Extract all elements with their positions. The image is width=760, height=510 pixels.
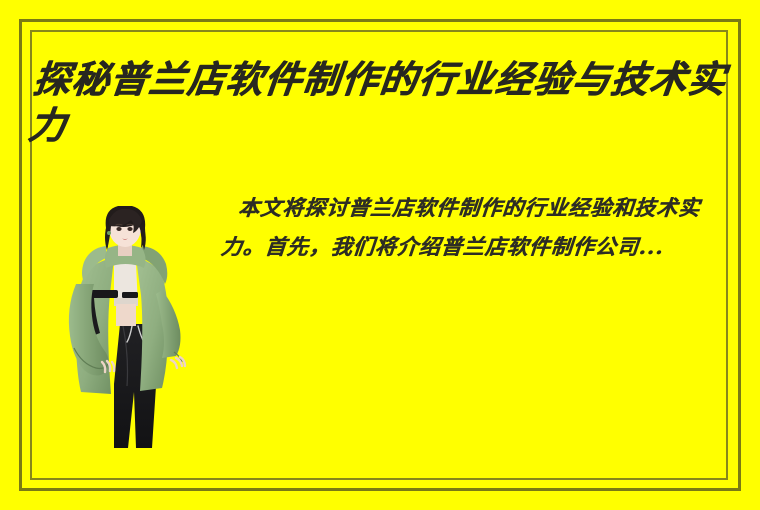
model-illustration xyxy=(62,206,188,449)
eye-right xyxy=(127,227,132,231)
model-photo xyxy=(62,206,188,449)
article-summary: 本文将探讨普兰店软件制作的行业经验和技术实力。首先，我们将介绍普兰店软件制作公司… xyxy=(219,188,726,266)
jacket-patch xyxy=(122,292,138,298)
page-title: 探秘普兰店软件制作的行业经验与技术实力 xyxy=(26,56,730,148)
midriff xyxy=(116,304,136,326)
eye-left xyxy=(116,227,121,231)
poster-canvas: 探秘普兰店软件制作的行业经验与技术实力 本文将探讨普兰店软件制作的行业经验和技术… xyxy=(0,0,760,510)
hand-right xyxy=(171,357,185,368)
earring xyxy=(107,231,111,235)
